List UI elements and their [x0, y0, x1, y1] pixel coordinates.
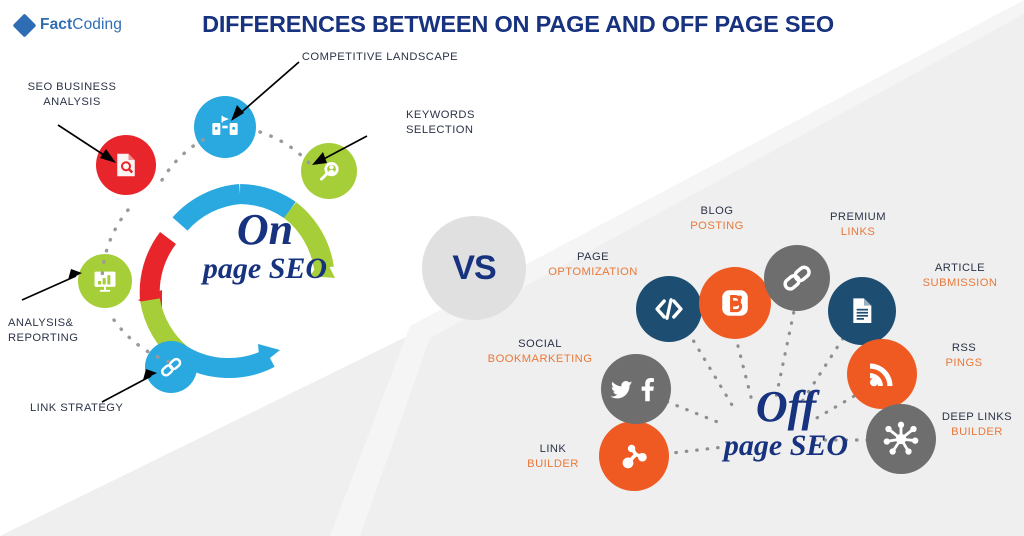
- off-label-premium-links-line1: PREMIUM: [810, 210, 906, 225]
- on-label-keywords-selection-line2: SELECTION: [406, 123, 516, 138]
- off-node-social-bookmarketing[interactable]: [601, 354, 671, 424]
- off-label-premium-links: PREMIUM LINKS: [810, 210, 906, 239]
- off-label-page-optomization-line2: OPTOMIZATION: [528, 265, 658, 280]
- off-label-deep-links-builder-line2: BUILDER: [930, 425, 1024, 440]
- on-label-link-strategy-line1: LINK STRATEGY: [30, 401, 170, 416]
- on-node-analysis-reporting[interactable]: [78, 254, 132, 308]
- on-label-keywords-selection-line1: KEYWORDS: [406, 108, 516, 123]
- on-label-analysis-reporting-line2: REPORTING: [8, 331, 128, 346]
- off-node-premium-links[interactable]: [764, 245, 830, 311]
- infographic-canvas: FactCoding DIFFERENCES BETWEEN ON PAGE A…: [0, 0, 1024, 536]
- off-label-rss-pings: RSS PINGS: [922, 341, 1006, 370]
- off-label-rss-pings-line2: PINGS: [922, 356, 1006, 371]
- on-label-competitive-landscape-line1: COMPETITIVE LANDSCAPE: [290, 50, 470, 65]
- off-node-article-submission[interactable]: [828, 277, 896, 345]
- off-label-deep-links-builder-line1: DEEP LINKS: [930, 410, 1024, 425]
- on-label-analysis-reporting-line1: ANALYSIS&: [8, 316, 128, 331]
- brand-name-light: Coding: [72, 16, 122, 33]
- on-node-link-strategy[interactable]: [145, 341, 197, 393]
- on-label-link-strategy: LINK STRATEGY: [30, 401, 170, 416]
- on-page-wordmark: On page SEO: [165, 208, 365, 284]
- off-label-page-optomization-line1: PAGE: [528, 250, 658, 265]
- blogger-b-icon: [718, 286, 752, 320]
- chain-link-icon: [779, 260, 815, 296]
- off-page-wordmark-line1: Off: [676, 385, 896, 429]
- page-title: DIFFERENCES BETWEEN ON PAGE AND OFF PAGE…: [168, 11, 868, 38]
- off-label-article-submission-line1: ARTICLE: [900, 261, 1020, 276]
- off-label-article-submission-line2: SUBMISSION: [900, 276, 1020, 291]
- share-nodes-icon: [616, 438, 652, 474]
- on-label-keywords-selection: KEYWORDS SELECTION: [406, 108, 516, 137]
- on-node-competitive-landscape[interactable]: [194, 96, 256, 158]
- presentation-chart-icon: [91, 267, 119, 295]
- off-label-blog-posting: BLOG POSTING: [670, 204, 764, 233]
- magnifier-user-icon: [314, 156, 344, 186]
- off-label-link-builder-line1: LINK: [510, 442, 596, 457]
- twitter-facebook-icon: [609, 372, 663, 406]
- bar-chart-compare-icon: [209, 111, 241, 143]
- chain-link-icon: [157, 353, 185, 381]
- on-page-wordmark-line2: page SEO: [165, 254, 365, 284]
- on-label-competitive-landscape: COMPETITIVE LANDSCAPE: [290, 50, 470, 65]
- off-label-link-builder: LINK BUILDER: [510, 442, 596, 471]
- off-label-premium-links-line2: LINKS: [810, 225, 906, 240]
- brand-name: FactCoding: [40, 16, 122, 34]
- code-brackets-icon: [652, 292, 686, 326]
- off-node-blog-posting[interactable]: [699, 267, 771, 339]
- document-search-icon: [111, 150, 141, 180]
- off-label-deep-links-builder: DEEP LINKS BUILDER: [930, 410, 1024, 439]
- off-label-page-optomization: PAGE OPTOMIZATION: [528, 250, 658, 279]
- off-label-article-submission: ARTICLE SUBMISSION: [900, 261, 1020, 290]
- off-label-blog-posting-line2: POSTING: [670, 219, 764, 234]
- diamond-icon: [12, 13, 36, 37]
- brand-name-bold: Fact: [40, 16, 72, 33]
- on-node-keywords-selection[interactable]: [301, 143, 357, 199]
- off-page-wordmark-line2: page SEO: [676, 431, 896, 461]
- on-label-seo-business-analysis: SEO BUSINESS ANALYSIS: [8, 80, 136, 109]
- off-label-social-bookmarketing-line1: SOCIAL: [470, 337, 610, 352]
- off-page-wordmark: Off page SEO: [676, 385, 896, 461]
- on-page-wordmark-line1: On: [165, 208, 365, 252]
- on-label-seo-business-analysis-line1: SEO BUSINESS: [8, 80, 136, 95]
- off-label-social-bookmarketing: SOCIAL BOOKMARKETING: [470, 337, 610, 366]
- off-node-link-builder[interactable]: [599, 421, 669, 491]
- off-label-link-builder-line2: BUILDER: [510, 457, 596, 472]
- off-label-rss-pings-line1: RSS: [922, 341, 1006, 356]
- off-node-page-optomization[interactable]: [636, 276, 702, 342]
- vs-badge: VS: [422, 216, 526, 320]
- off-label-social-bookmarketing-line2: BOOKMARKETING: [470, 352, 610, 367]
- off-label-blog-posting-line1: BLOG: [670, 204, 764, 219]
- on-label-seo-business-analysis-line2: ANALYSIS: [8, 95, 136, 110]
- document-icon: [846, 295, 878, 327]
- on-label-analysis-reporting: ANALYSIS& REPORTING: [8, 316, 128, 345]
- brand-logo[interactable]: FactCoding: [16, 16, 122, 34]
- vs-label: VS: [452, 249, 495, 288]
- on-node-seo-business-analysis[interactable]: [96, 135, 156, 195]
